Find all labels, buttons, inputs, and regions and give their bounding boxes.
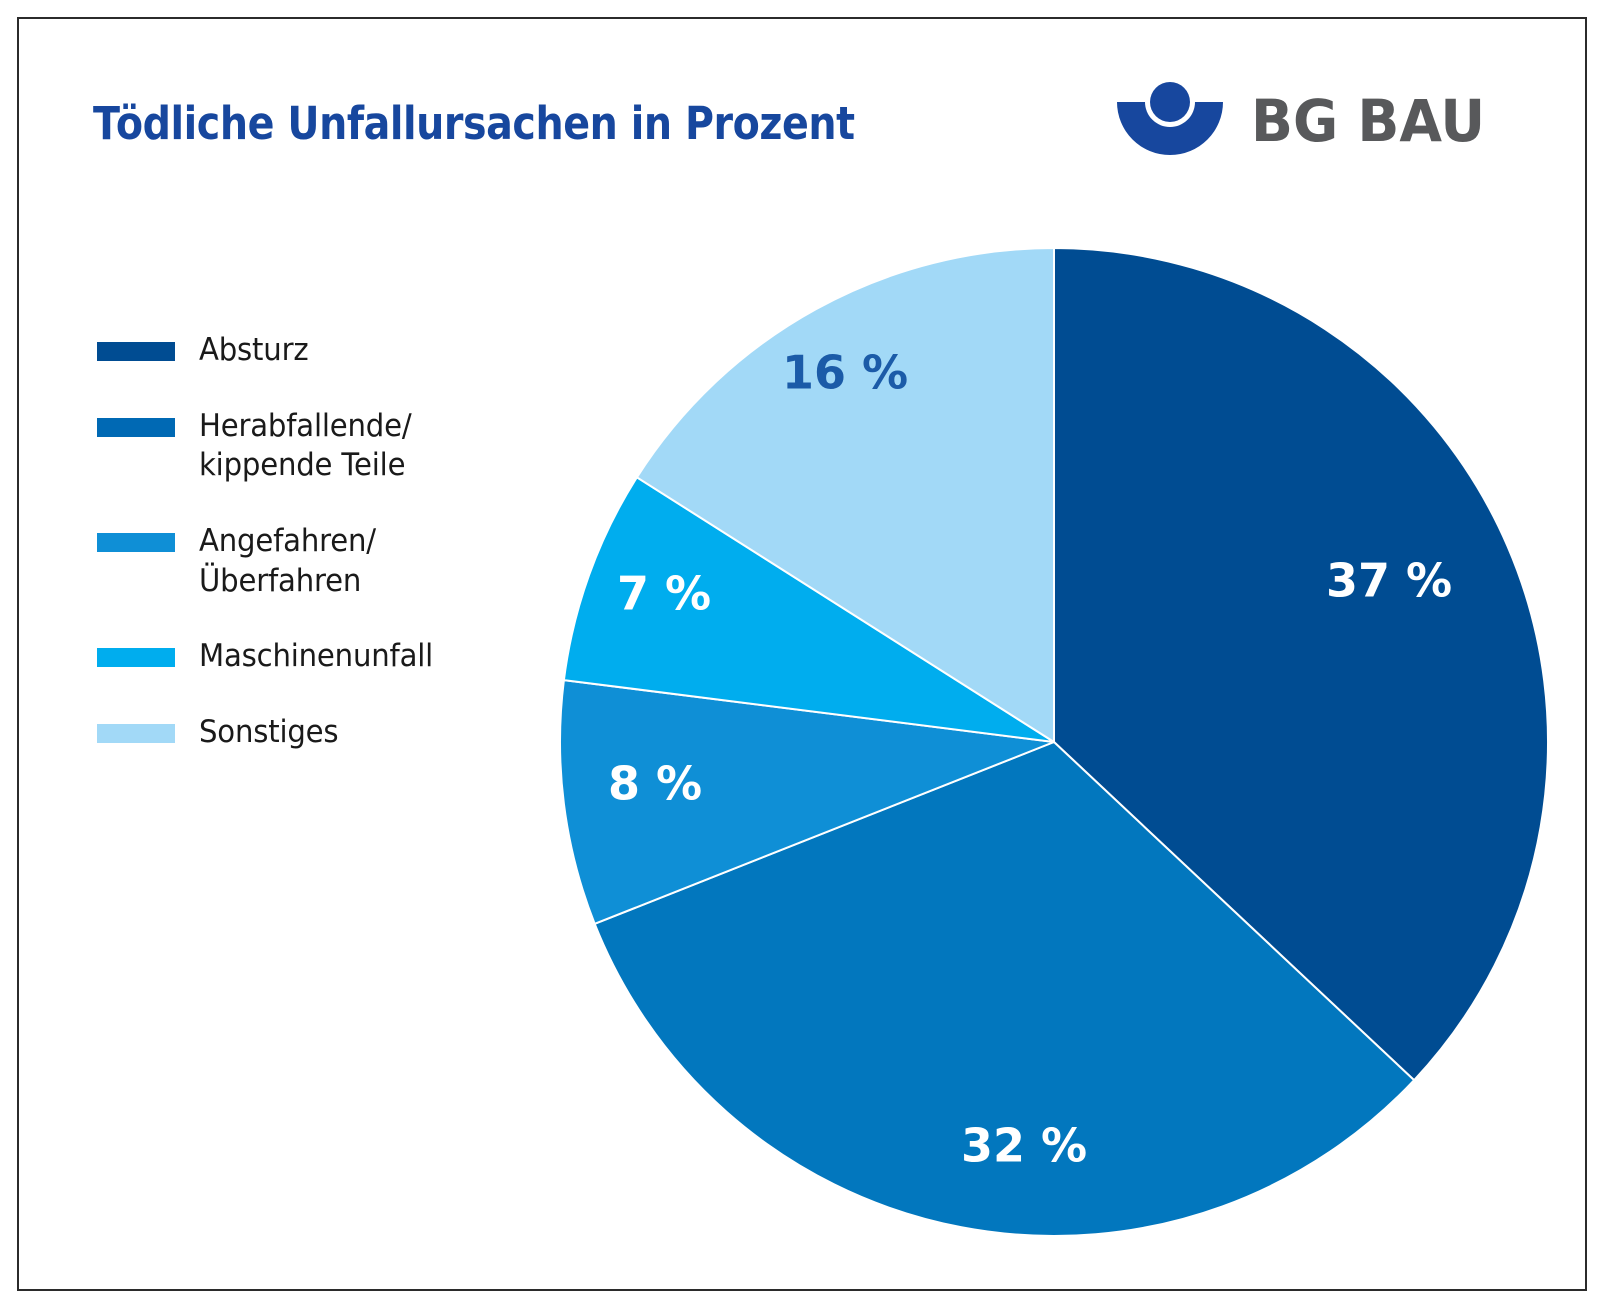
pie-slice-group (560, 248, 1548, 1236)
pie-slice-data-label: 8 % (608, 757, 702, 811)
chart-legend: Absturz Herabfallende/ kippende Teile An… (97, 331, 497, 789)
legend-swatch-icon (97, 648, 175, 667)
pie-slice-data-label: 32 % (961, 1119, 1087, 1173)
page-title: Tödliche Unfallursachen in Prozent (93, 97, 855, 150)
legend-item-angefahren-ueberfahren[interactable]: Angefahren/ Überfahren (97, 522, 497, 601)
legend-item-maschinenunfall[interactable]: Maschinenunfall (97, 637, 497, 677)
legend-item-label: Maschinenunfall (199, 637, 433, 677)
legend-item-label: Angefahren/ Überfahren (199, 522, 376, 601)
brand-logo: BG BAU (1111, 81, 1497, 161)
pie-chart: 37 %32 %8 %7 %16 % (559, 247, 1549, 1237)
legend-item-sonstiges[interactable]: Sonstiges (97, 713, 497, 753)
legend-item-label: Sonstiges (199, 713, 338, 753)
pie-slice-data-label: 7 % (617, 567, 711, 621)
legend-item-label: Herabfallende/ kippende Teile (199, 407, 411, 486)
pie-slice-data-label: 37 % (1326, 554, 1452, 608)
legend-swatch-icon (97, 342, 175, 361)
chart-frame: Tödliche Unfallursachen in Prozent BG BA… (17, 17, 1587, 1291)
legend-item-herabfallende-kippende-teile[interactable]: Herabfallende/ kippende Teile (97, 407, 497, 486)
brand-logo-text: BG BAU (1251, 92, 1485, 150)
chart-canvas: Tödliche Unfallursachen in Prozent BG BA… (0, 0, 1600, 1304)
legend-item-label: Absturz (199, 331, 308, 371)
bg-bau-logo-mark-icon (1111, 81, 1229, 161)
legend-swatch-icon (97, 724, 175, 743)
legend-swatch-icon (97, 533, 175, 552)
pie-slice-data-label: 16 % (782, 346, 908, 400)
legend-swatch-icon (97, 418, 175, 437)
legend-item-absturz[interactable]: Absturz (97, 331, 497, 371)
